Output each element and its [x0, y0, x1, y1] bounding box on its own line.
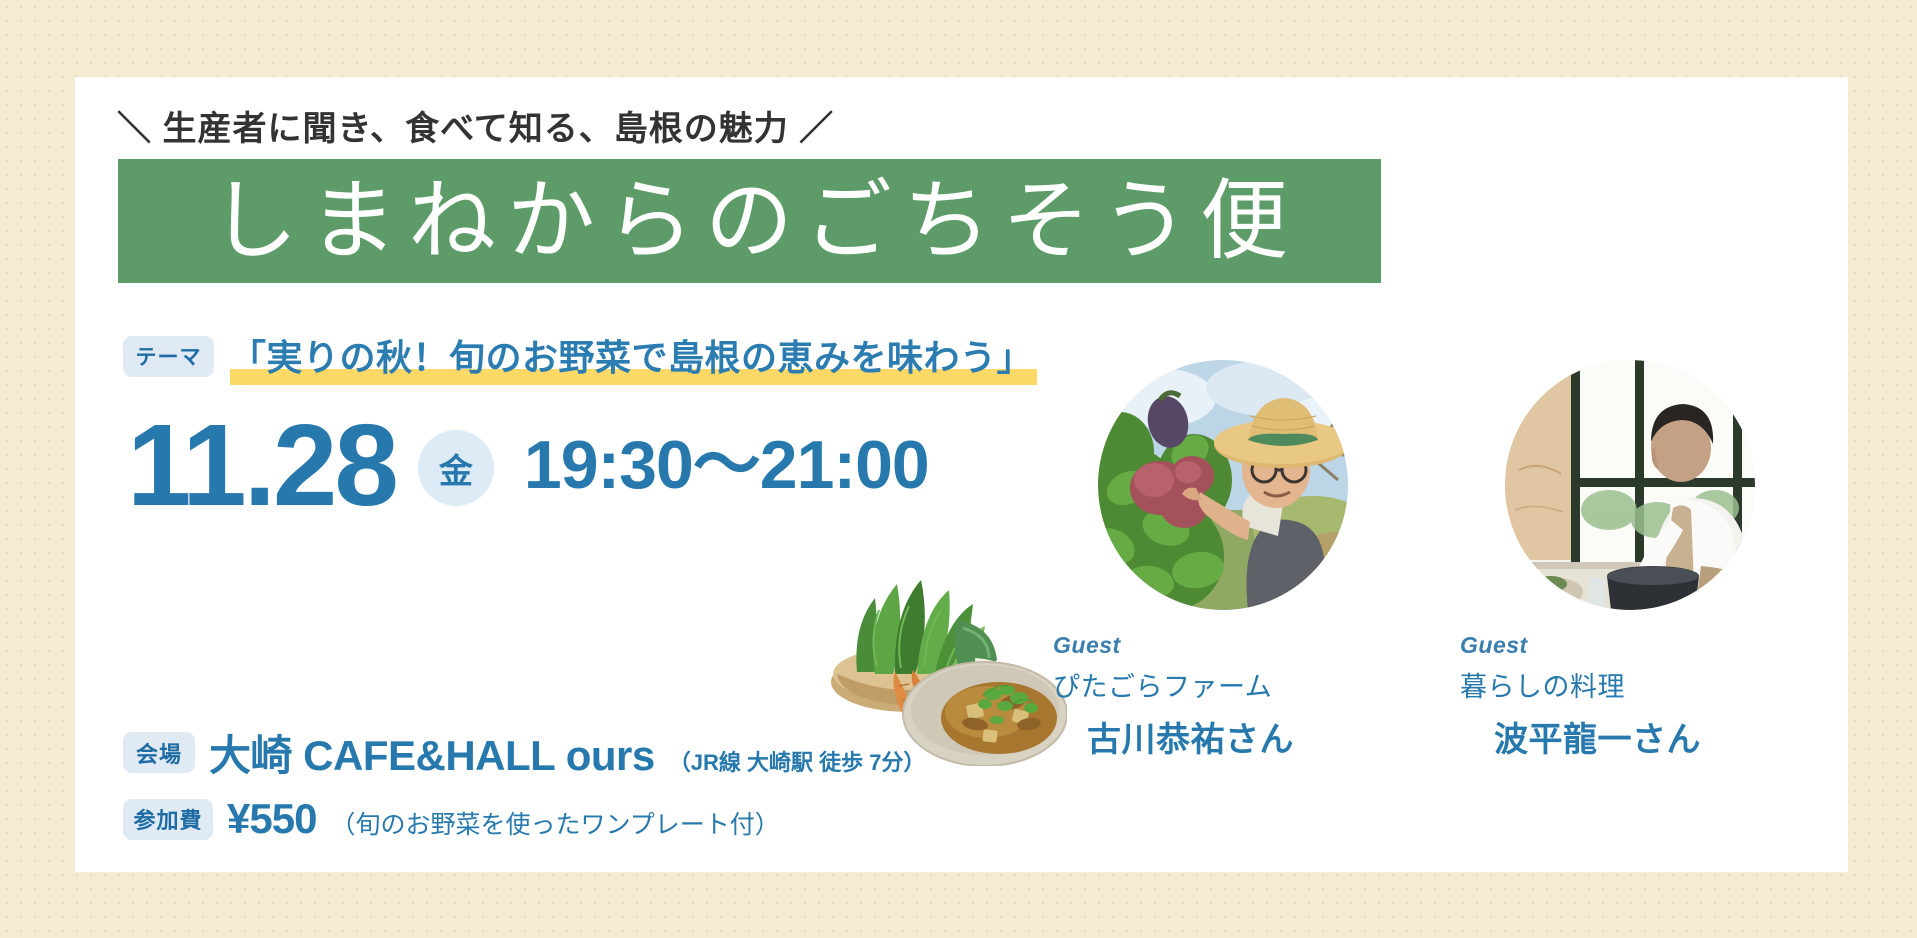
guest-label: Guest: [1460, 632, 1817, 659]
venue-badge: 会場: [123, 732, 195, 773]
tagline: ＼ 生産者に聞き、食べて知る、島根の魅力 ／: [117, 101, 834, 150]
theme-badge: テーマ: [123, 336, 214, 377]
theme-row: テーマ 「実りの秋！旬のお野菜で島根の恵みを味わう」: [123, 329, 1033, 383]
venue-name: 大崎 CAFE&HALL ours: [209, 722, 655, 783]
fee-row: 参加費 ¥550 （旬のお野菜を使ったワンプレート付）: [123, 795, 780, 843]
guest-meta: Guest ぴたごらファーム 古川恭祐さん: [1035, 632, 1410, 761]
theme-text: 「実りの秋！旬のお野菜で島根の恵みを味わう」: [230, 337, 1033, 378]
title-band: しまねからのごちそう便: [118, 159, 1381, 283]
page-title: しまねからのごちそう便: [200, 177, 1299, 265]
date-row: 11.28 金 19:30〜21:00: [127, 407, 929, 523]
venue-row: 会場 大崎 CAFE&HALL ours （JR線 大崎駅 徒歩 7分）: [123, 722, 925, 783]
guest-card: Guest ぴたごらファーム 古川恭祐さん: [1035, 360, 1410, 761]
fee-badge: 参加費: [123, 799, 213, 840]
event-time: 19:30〜21:00: [524, 431, 929, 499]
guest-meta: Guest 暮らしの料理 波平龍一さん: [1442, 632, 1817, 761]
theme-text-wrapper: 「実りの秋！旬のお野菜で島根の恵みを味わう」: [230, 329, 1033, 383]
guest-name: 古川恭祐さん: [1053, 712, 1410, 761]
fee-note: （旬のお野菜を使ったワンプレート付）: [330, 805, 779, 841]
weekday-badge: 金: [418, 430, 494, 506]
food-photo: [817, 554, 1067, 766]
guest-org: ぴたごらファーム: [1053, 665, 1410, 704]
guest-photo-farmer: [1098, 360, 1348, 610]
guest-photo-cook: [1505, 360, 1755, 610]
guest-card: Guest 暮らしの料理 波平龍一さん: [1442, 360, 1817, 761]
guest-label: Guest: [1053, 632, 1410, 659]
event-date: 11.28: [127, 407, 396, 523]
fee-amount: ¥550: [227, 795, 316, 843]
guest-name: 波平龍一さん: [1460, 712, 1817, 761]
flyer-card: ＼ 生産者に聞き、食べて知る、島根の魅力 ／ しまねからのごちそう便 テーマ 「…: [75, 77, 1848, 872]
guest-list: Guest ぴたごらファーム 古川恭祐さん: [1035, 360, 1825, 761]
guest-org: 暮らしの料理: [1460, 665, 1817, 704]
